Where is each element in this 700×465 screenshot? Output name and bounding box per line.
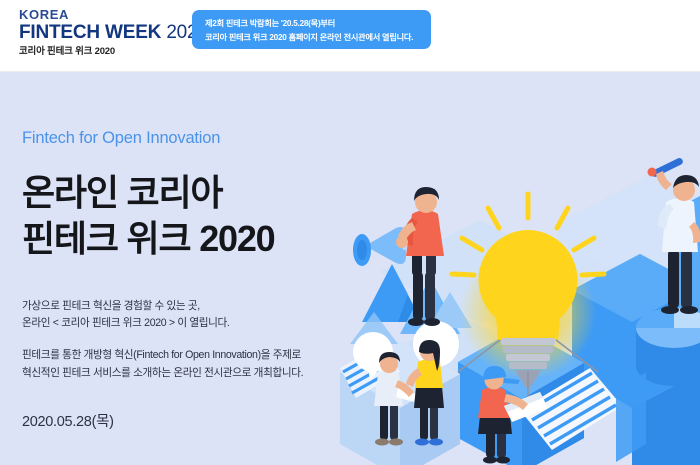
notice-line-2: 코리아 핀테크 위크 2020 홈페이지 온라인 전시관에서 열립니다. — [205, 31, 431, 45]
hero-paragraph-2-line-1: 핀테크를 통한 개방형 혁신(Fintech for Open Innovati… — [22, 349, 301, 361]
notice-line-1: 제2회 핀테크 박람회는 '20.5.28(목)부터 — [205, 17, 431, 31]
hero-copy-block: Fintech for Open Innovation 온라인 코리아 핀테크 … — [22, 129, 382, 431]
hero-title-line-2: 핀테크 위크 2020 — [22, 216, 382, 262]
page-header: KOREA FINTECH WEEK 2020 코리아 핀테크 위크 2020 … — [0, 0, 700, 72]
event-date: 2020.05.28(목) — [22, 410, 382, 431]
logo-line-korea: KOREA — [19, 8, 208, 21]
logo-line-korean: 코리아 핀테크 위크 2020 — [19, 47, 208, 57]
hero-title: 온라인 코리아 핀테크 위크 2020 — [22, 170, 382, 262]
korea-fintech-week-logo[interactable]: KOREA FINTECH WEEK 2020 코리아 핀테크 위크 2020 — [19, 8, 208, 56]
logo-fintech-week-text: FINTECH WEEK — [19, 22, 161, 43]
hero-paragraph-2-line-2: 혁신적인 핀테크 서비스를 소개하는 온라인 전시관으로 개최합니다. — [22, 367, 303, 379]
hero-paragraph-1-line-1: 가상으로 핀테크 혁신을 경험할 수 있는 곳, — [22, 300, 200, 312]
hero-paragraph-1-line-2: 온라인 < 코리아 핀테크 위크 2020 > 이 열립니다. — [22, 317, 230, 329]
hero-paragraph-2: 핀테크를 통한 개방형 혁신(Fintech for Open Innovati… — [22, 347, 382, 381]
promo-banner-page: KOREA FINTECH WEEK 2020 코리아 핀테크 위크 2020 … — [0, 0, 700, 465]
hero-body: 가상으로 핀테크 혁신을 경험할 수 있는 곳, 온라인 < 코리아 핀테크 위… — [22, 298, 382, 382]
logo-line-fintech-week: FINTECH WEEK 2020 — [19, 23, 208, 43]
notice-banner[interactable]: 제2회 핀테크 박람회는 '20.5.28(목)부터 코리아 핀테크 위크 20… — [192, 10, 431, 49]
hero-title-line-1: 온라인 코리아 — [22, 172, 222, 213]
hero-illustration — [340, 72, 700, 465]
hero-stage: Fintech for Open Innovation 온라인 코리아 핀테크 … — [0, 72, 700, 465]
hero-paragraph-1: 가상으로 핀테크 혁신을 경험할 수 있는 곳, 온라인 < 코리아 핀테크 위… — [22, 298, 382, 332]
hero-kicker: Fintech for Open Innovation — [22, 129, 382, 148]
